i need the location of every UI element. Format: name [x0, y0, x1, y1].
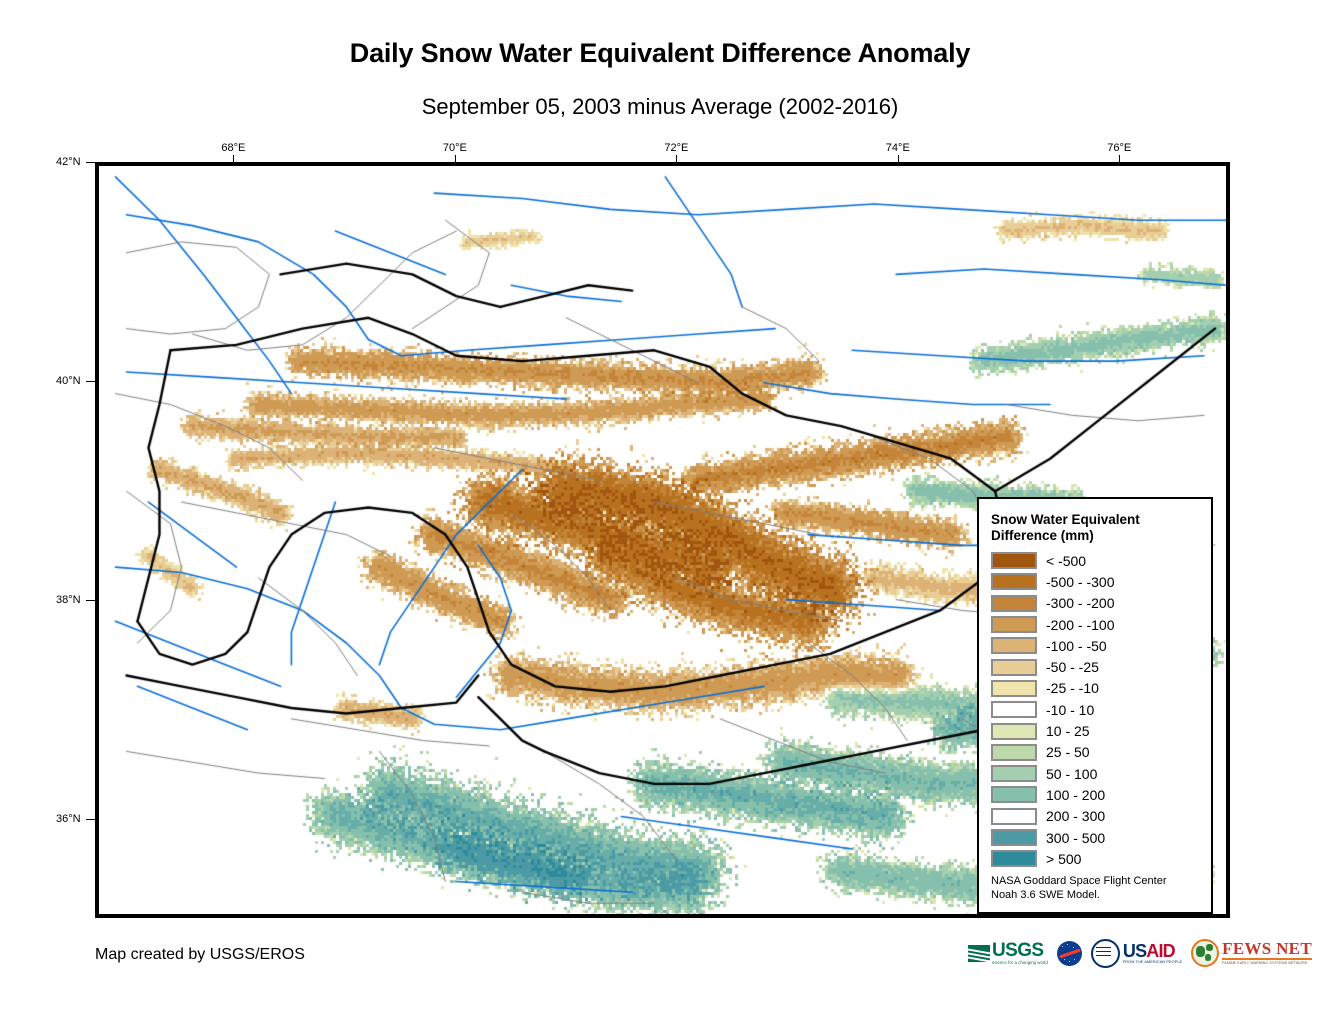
lat-label: 38°N: [56, 594, 81, 606]
nasa-meatball-icon: [1057, 941, 1082, 966]
lat-label: 42°N: [56, 156, 81, 168]
legend-panel: Snow Water Equivalent Difference (mm) < …: [977, 497, 1213, 914]
legend-label: 25 - 50: [1046, 744, 1090, 760]
legend-row: 25 - 50: [991, 742, 1201, 763]
legend-label: 200 - 300: [1046, 808, 1105, 824]
legend-row: 300 - 500: [991, 827, 1201, 848]
legend-note-line2: Noah 3.6 SWE Model.: [991, 889, 1201, 903]
fews-globe-icon: [1191, 939, 1219, 967]
legend-swatch: [991, 659, 1037, 676]
lat-tick: [86, 162, 95, 163]
logo-bar: USGS science for a changing world USAID …: [968, 934, 1312, 972]
lat-label: 36°N: [56, 813, 81, 825]
legend-label: > 500: [1046, 851, 1081, 867]
legend-source-note: NASA Goddard Space Flight Center Noah 3.…: [991, 875, 1201, 902]
fews-net-tagline: FAMINE EARLY WARNING SYSTEMS NETWORK: [1222, 961, 1312, 965]
usaid-seal-icon: [1091, 939, 1120, 968]
legend-label: -10 - 10: [1046, 702, 1094, 718]
map-credit: Map created by USGS/EROS: [95, 946, 305, 964]
usaid-tagline: FROM THE AMERICAN PEOPLE: [1123, 960, 1182, 964]
lat-tick: [86, 600, 95, 601]
legend-title: Snow Water Equivalent Difference (mm): [991, 512, 1201, 544]
legend-label: -200 - -100: [1046, 617, 1114, 633]
lat-label: 40°N: [56, 375, 81, 387]
legend-row: -50 - -25: [991, 656, 1201, 677]
legend-label: 50 - 100: [1046, 766, 1097, 782]
legend-label: 100 - 200: [1046, 787, 1105, 803]
legend-row: -25 - -10: [991, 678, 1201, 699]
page-subtitle: September 05, 2003 minus Average (2002-2…: [0, 94, 1320, 120]
legend-row: 10 - 25: [991, 720, 1201, 741]
lon-label: 74°E: [886, 142, 910, 154]
lon-label: 76°E: [1107, 142, 1131, 154]
legend-swatch: [991, 723, 1037, 740]
usgs-logo: USGS science for a changing world: [968, 942, 1048, 965]
usgs-mark-icon: [968, 945, 990, 962]
lon-label: 72°E: [664, 142, 688, 154]
legend-swatch: [991, 744, 1037, 761]
lat-tick: [86, 819, 95, 820]
legend-row: < -500: [991, 550, 1201, 571]
legend-swatch: [991, 786, 1037, 803]
legend-swatch: [991, 829, 1037, 846]
legend-swatch: [991, 680, 1037, 697]
legend-label: < -500: [1046, 553, 1086, 569]
legend-swatch: [991, 701, 1037, 718]
legend-swatch: [991, 637, 1037, 654]
legend-row: -100 - -50: [991, 635, 1201, 656]
usaid-wordmark: USAID: [1123, 943, 1182, 960]
page-title: Daily Snow Water Equivalent Difference A…: [0, 38, 1320, 69]
fews-net-logo: FEWS NET FAMINE EARLY WARNING SYSTEMS NE…: [1191, 939, 1312, 967]
fews-net-wordmark: FEWS NET: [1222, 941, 1312, 960]
legend-row: 100 - 200: [991, 784, 1201, 805]
legend-label: -300 - -200: [1046, 595, 1114, 611]
legend-label: -500 - -300: [1046, 574, 1114, 590]
legend-row: -500 - -300: [991, 571, 1201, 592]
legend-swatch: [991, 573, 1037, 590]
legend-row: -10 - 10: [991, 699, 1201, 720]
usaid-logo: USAID FROM THE AMERICAN PEOPLE: [1091, 939, 1182, 968]
legend-title-line2: Difference (mm): [991, 528, 1201, 544]
legend-row: > 500: [991, 848, 1201, 869]
usgs-wordmark: USGS: [992, 942, 1048, 959]
legend-swatch: [991, 552, 1037, 569]
legend-title-line1: Snow Water Equivalent: [991, 512, 1201, 528]
legend-swatch: [991, 850, 1037, 867]
legend-note-line1: NASA Goddard Space Flight Center: [991, 875, 1201, 889]
legend-label: -50 - -25: [1046, 659, 1099, 675]
legend-swatch: [991, 595, 1037, 612]
legend-row: -300 - -200: [991, 593, 1201, 614]
legend-label: -25 - -10: [1046, 680, 1099, 696]
lat-tick: [86, 381, 95, 382]
legend-label: 300 - 500: [1046, 830, 1105, 846]
legend-swatch: [991, 808, 1037, 825]
legend-swatch: [991, 616, 1037, 633]
legend-row: -200 - -100: [991, 614, 1201, 635]
legend-row: 50 - 100: [991, 763, 1201, 784]
legend-label: 10 - 25: [1046, 723, 1090, 739]
legend-row: 200 - 300: [991, 806, 1201, 827]
legend-label: -100 - -50: [1046, 638, 1107, 654]
legend-swatch: [991, 765, 1037, 782]
lon-label: 70°E: [443, 142, 467, 154]
lon-label: 68°E: [221, 142, 245, 154]
nasa-logo: [1057, 941, 1082, 966]
usgs-tagline: science for a changing world: [992, 960, 1048, 965]
legend-class-list: < -500-500 - -300-300 - -200-200 - -100-…: [991, 550, 1201, 869]
